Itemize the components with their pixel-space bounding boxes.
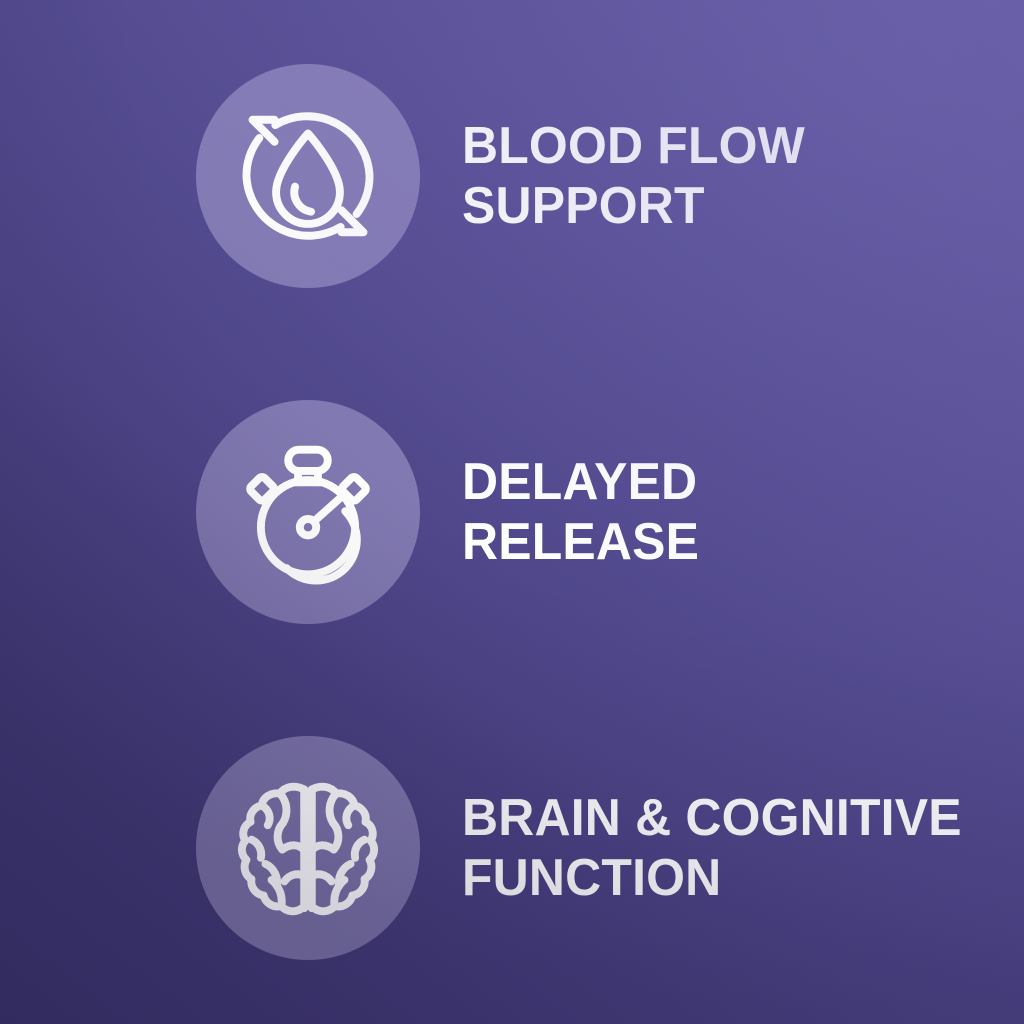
stopwatch-icon: [232, 436, 384, 588]
benefits-panel: BLOOD FLOW SUPPORT: [0, 0, 1024, 1024]
feature-label-blood-flow: BLOOD FLOW SUPPORT: [462, 116, 1002, 236]
feature-label-brain-cognitive: BRAIN & COGNITIVE FUNCTION: [462, 788, 1002, 908]
feature-row: BLOOD FLOW SUPPORT: [0, 64, 1024, 288]
feature-label-delayed-release: DELAYED RELEASE: [462, 452, 1002, 572]
blood-flow-recycle-droplet-icon: [232, 100, 384, 252]
feature-row: BRAIN & COGNITIVE FUNCTION: [0, 736, 1024, 960]
feature-row: DELAYED RELEASE: [0, 400, 1024, 624]
icon-badge-brain: [196, 736, 420, 960]
icon-badge-delayed-release: [196, 400, 420, 624]
icon-badge-blood-flow: [196, 64, 420, 288]
brain-icon: [232, 772, 384, 924]
